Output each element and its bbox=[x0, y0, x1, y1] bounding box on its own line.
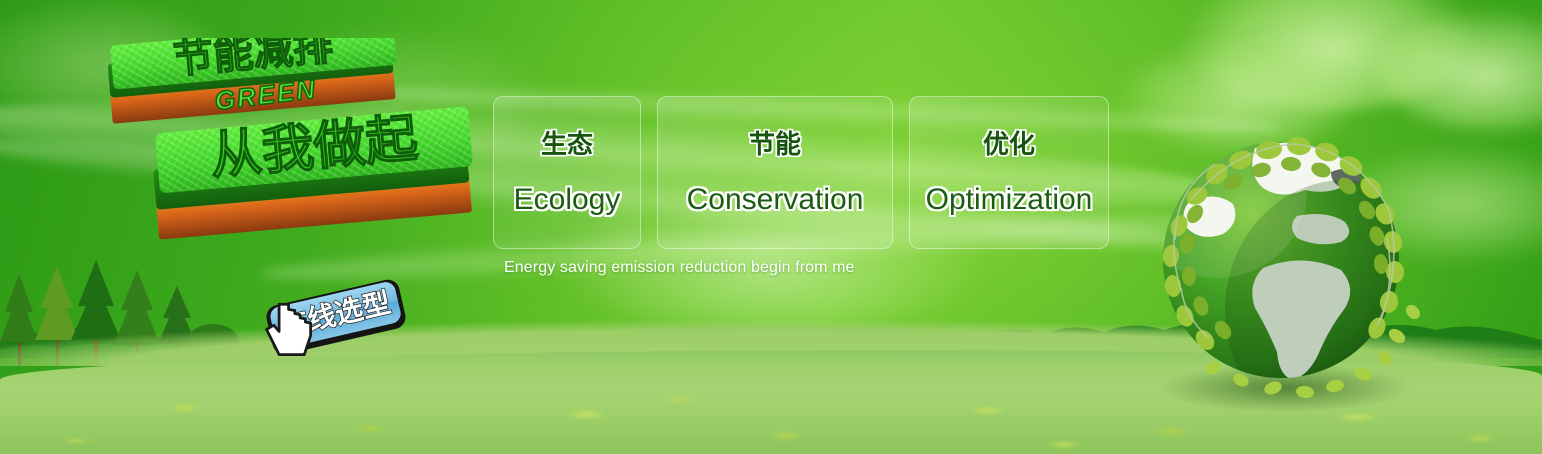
feature-card-cn-label: 生态 bbox=[541, 131, 593, 157]
feature-card-en-label: Conservation bbox=[687, 185, 864, 215]
leafy-earth-globe bbox=[1145, 130, 1435, 430]
hero-3d-headline: 节能减排 GREEN 从我做起 bbox=[98, 38, 488, 268]
feature-card-conservation[interactable]: 节能 Conservation bbox=[657, 96, 893, 249]
feature-card-en-label: Optimization bbox=[926, 185, 1093, 215]
feature-card-en-label: Ecology bbox=[514, 185, 621, 215]
feature-card-ecology[interactable]: 生态 Ecology bbox=[493, 96, 641, 249]
feature-card-cn-label: 节能 bbox=[749, 131, 801, 157]
green-energy-banner: 节能减排 GREEN 从我做起 bbox=[0, 0, 1542, 454]
cloud-decoration bbox=[1180, 0, 1480, 110]
online-selection-button[interactable]: 在线选型 bbox=[252, 272, 420, 362]
feature-card-cn-label: 优化 bbox=[983, 131, 1035, 157]
banner-tagline: Energy saving emission reduction begin f… bbox=[504, 259, 855, 277]
feature-card-optimization[interactable]: 优化 Optimization bbox=[909, 96, 1109, 249]
cloud-decoration bbox=[1380, 10, 1542, 130]
feature-card-list: 生态 Ecology 节能 Conservation 优化 Optimizati… bbox=[493, 96, 1109, 249]
